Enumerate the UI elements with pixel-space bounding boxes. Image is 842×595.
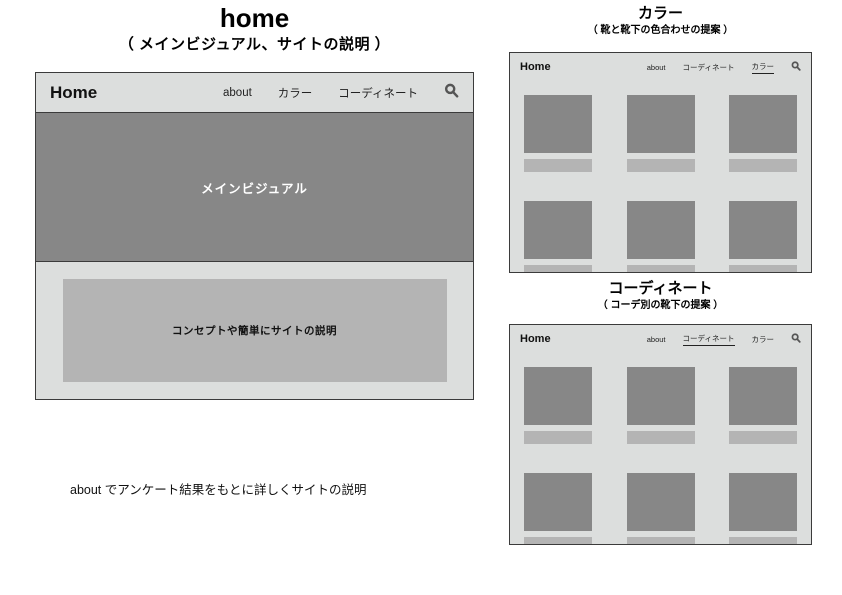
- nav-links: about コーディネート カラー: [630, 58, 801, 76]
- nav-link-coordinate[interactable]: コーディネート: [683, 333, 735, 346]
- about-note: about でアンケート結果をもとに詳しくサイトの説明: [70, 479, 367, 498]
- concept-label: コンセプトや簡単にサイトの説明: [172, 323, 337, 338]
- card-row: [524, 95, 797, 172]
- nav-links: about コーディネート カラー: [630, 330, 801, 348]
- card-caption: [729, 265, 797, 273]
- card-item[interactable]: [524, 473, 592, 545]
- home-subtitle: （ メインビジュアル、サイトの説明 ）: [35, 36, 474, 54]
- card-caption: [524, 431, 592, 444]
- home-section: home （ メインビジュアル、サイトの説明 ）: [35, 4, 474, 54]
- color-subtitle: （ 靴と靴下の色合わせの提案 ）: [509, 25, 812, 37]
- card-item[interactable]: [627, 367, 695, 444]
- nav-brand-home[interactable]: Home: [520, 333, 551, 345]
- home-navbar: Home about カラー コーディネート: [36, 73, 473, 113]
- hero-main-visual: メインビジュアル: [36, 113, 473, 262]
- card-caption: [729, 537, 797, 545]
- card-caption: [627, 431, 695, 444]
- coordinate-navbar: Home about コーディネート カラー: [510, 325, 811, 353]
- coordinate-section: コーディネート （ コーデ別の靴下の提案 ）: [509, 281, 812, 312]
- search-icon[interactable]: [791, 58, 801, 76]
- card-item[interactable]: [627, 201, 695, 273]
- card-thumbnail: [627, 367, 695, 425]
- color-navbar: Home about コーディネート カラー: [510, 53, 811, 81]
- search-icon[interactable]: [791, 330, 801, 348]
- nav-link-about[interactable]: about: [223, 87, 252, 99]
- color-title: カラー: [509, 6, 812, 23]
- nav-brand-home[interactable]: Home: [520, 61, 551, 73]
- card-thumbnail: [627, 473, 695, 531]
- card-item[interactable]: [524, 95, 592, 172]
- nav-link-color[interactable]: カラー: [752, 334, 775, 345]
- card-item[interactable]: [729, 95, 797, 172]
- card-thumbnail: [729, 95, 797, 153]
- search-icon[interactable]: [444, 83, 459, 103]
- card-row: [524, 201, 797, 273]
- card-item[interactable]: [524, 201, 592, 273]
- nav-link-about[interactable]: about: [647, 335, 666, 344]
- nav-link-coordinate[interactable]: コーディネート: [338, 85, 418, 101]
- color-section: カラー （ 靴と靴下の色合わせの提案 ）: [509, 6, 812, 37]
- coordinate-card-grid: [510, 353, 811, 545]
- color-card-grid: [510, 81, 811, 273]
- concept-box: コンセプトや簡単にサイトの説明: [63, 279, 447, 382]
- coordinate-subtitle: （ コーデ別の靴下の提案 ）: [509, 300, 812, 312]
- home-title: home: [35, 4, 474, 33]
- nav-link-color[interactable]: カラー: [278, 85, 313, 101]
- card-row: [524, 367, 797, 444]
- card-item[interactable]: [627, 95, 695, 172]
- card-caption: [729, 431, 797, 444]
- card-thumbnail: [729, 473, 797, 531]
- nav-brand-home[interactable]: Home: [50, 83, 97, 103]
- card-thumbnail: [729, 367, 797, 425]
- coordinate-wireframe-panel: Home about コーディネート カラー: [509, 324, 812, 545]
- card-item[interactable]: [627, 473, 695, 545]
- card-thumbnail: [627, 201, 695, 259]
- nav-links: about カラー コーディネート: [197, 83, 459, 103]
- card-thumbnail: [627, 95, 695, 153]
- color-wireframe-panel: Home about コーディネート カラー: [509, 52, 812, 273]
- card-item[interactable]: [524, 367, 592, 444]
- card-item[interactable]: [729, 367, 797, 444]
- nav-link-about[interactable]: about: [647, 63, 666, 72]
- coordinate-title: コーディネート: [509, 281, 812, 298]
- card-thumbnail: [729, 201, 797, 259]
- home-wireframe-panel: Home about カラー コーディネート メインビジュアル コンセプトや簡単…: [35, 72, 474, 400]
- card-thumbnail: [524, 201, 592, 259]
- concept-region: コンセプトや簡単にサイトの説明: [36, 262, 473, 399]
- card-item[interactable]: [729, 473, 797, 545]
- card-caption: [524, 537, 592, 545]
- card-caption: [627, 159, 695, 172]
- nav-link-color[interactable]: カラー: [752, 61, 775, 74]
- card-row: [524, 473, 797, 545]
- card-caption: [524, 265, 592, 273]
- card-thumbnail: [524, 473, 592, 531]
- nav-link-coordinate[interactable]: コーディネート: [683, 62, 735, 73]
- card-item[interactable]: [729, 201, 797, 273]
- card-thumbnail: [524, 95, 592, 153]
- card-thumbnail: [524, 367, 592, 425]
- card-caption: [729, 159, 797, 172]
- card-caption: [524, 159, 592, 172]
- card-caption: [627, 265, 695, 273]
- hero-label: メインビジュアル: [201, 178, 308, 197]
- card-caption: [627, 537, 695, 545]
